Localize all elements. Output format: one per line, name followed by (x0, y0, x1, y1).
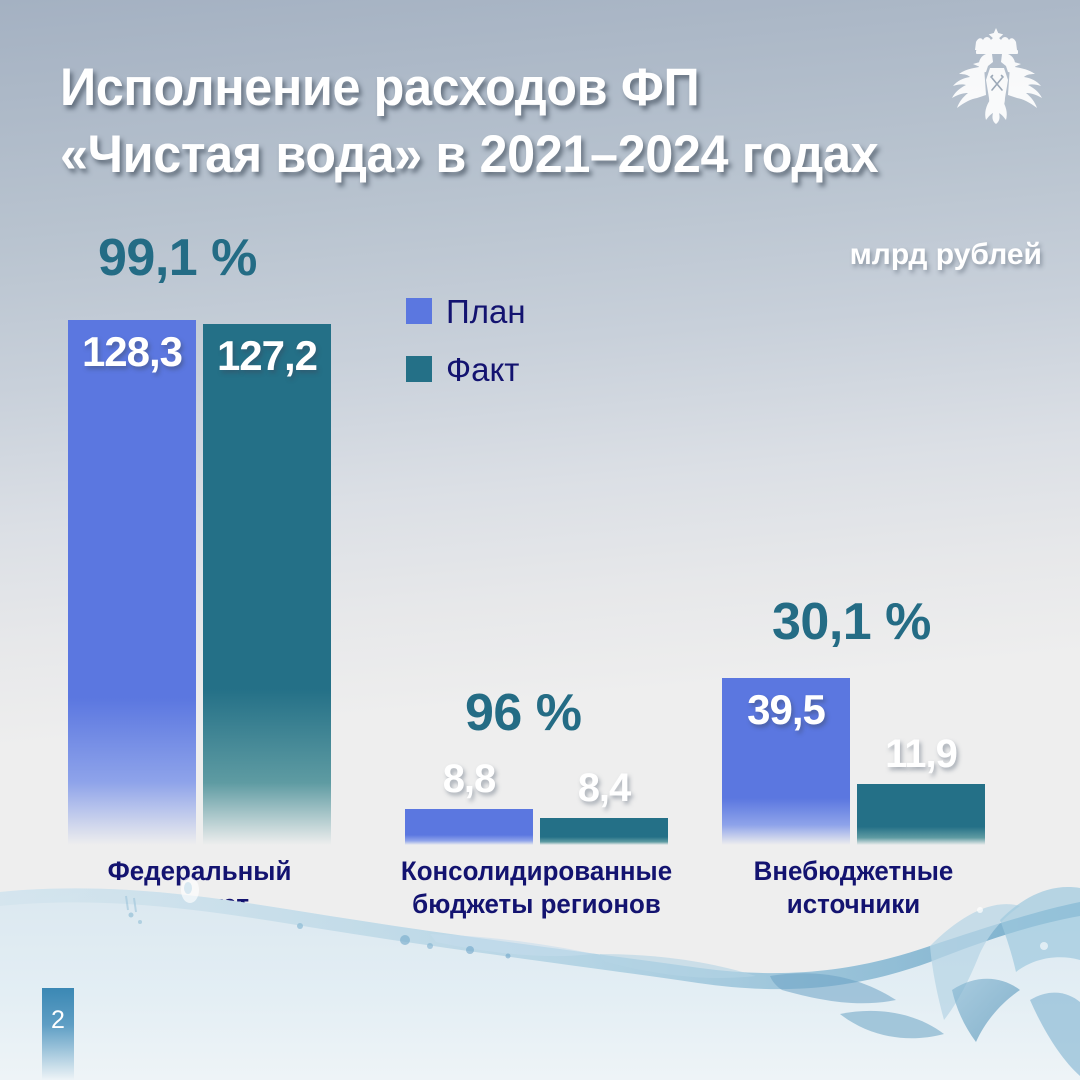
percent-label-federal-budget: 99,1 % (98, 228, 257, 288)
bar-fact-extrabudgetary-sources[interactable]: 11,9 (857, 784, 985, 845)
percent-label-extrabudgetary-sources: 30,1 % (772, 592, 931, 652)
bar-group-federal-budget: 99,1 % 128,3 127,2 Федеральный бюджет (68, 320, 330, 845)
bar-value-fact-regional-budgets: 8,4 (522, 766, 686, 811)
page-number-badge: 2 (42, 988, 74, 1080)
page-number-text: 2 (42, 1006, 74, 1035)
category-label-regional-budgets: Консолидированные бюджеты регионов (377, 855, 697, 921)
category-label-extrabudgetary-sources: Внебюджетные источники (708, 855, 999, 921)
bar-value-plan-federal-budget: 128,3 (68, 328, 196, 376)
bar-plan-extrabudgetary-sources[interactable]: 39,5 (722, 678, 850, 845)
bar-fact-regional-budgets[interactable]: 8,4 (540, 818, 668, 845)
bar-value-fact-extrabudgetary-sources: 11,9 (839, 732, 1003, 777)
bar-chart: 99,1 % 128,3 127,2 Федеральный бюджет 96… (0, 0, 1080, 1080)
bar-plan-regional-budgets[interactable]: 8,8 (405, 809, 533, 845)
percent-label-regional-budgets: 96 % (465, 683, 582, 743)
category-label-federal-budget: Федеральный бюджет (54, 855, 345, 921)
infographic-slide: Исполнение расходов ФП «Чистая вода» в 2… (0, 0, 1080, 1080)
bar-fact-federal-budget[interactable]: 127,2 (203, 324, 331, 845)
bar-value-fact-federal-budget: 127,2 (203, 332, 331, 380)
bar-group-extrabudgetary-sources: 30,1 % 39,5 11,9 Внебюджетные источники (722, 678, 984, 845)
bar-value-plan-extrabudgetary-sources: 39,5 (722, 686, 850, 734)
bar-group-regional-budgets: 96 % 8,8 8,4 Консолидированные бюджеты р… (405, 809, 667, 845)
bar-plan-federal-budget[interactable]: 128,3 (68, 320, 196, 845)
